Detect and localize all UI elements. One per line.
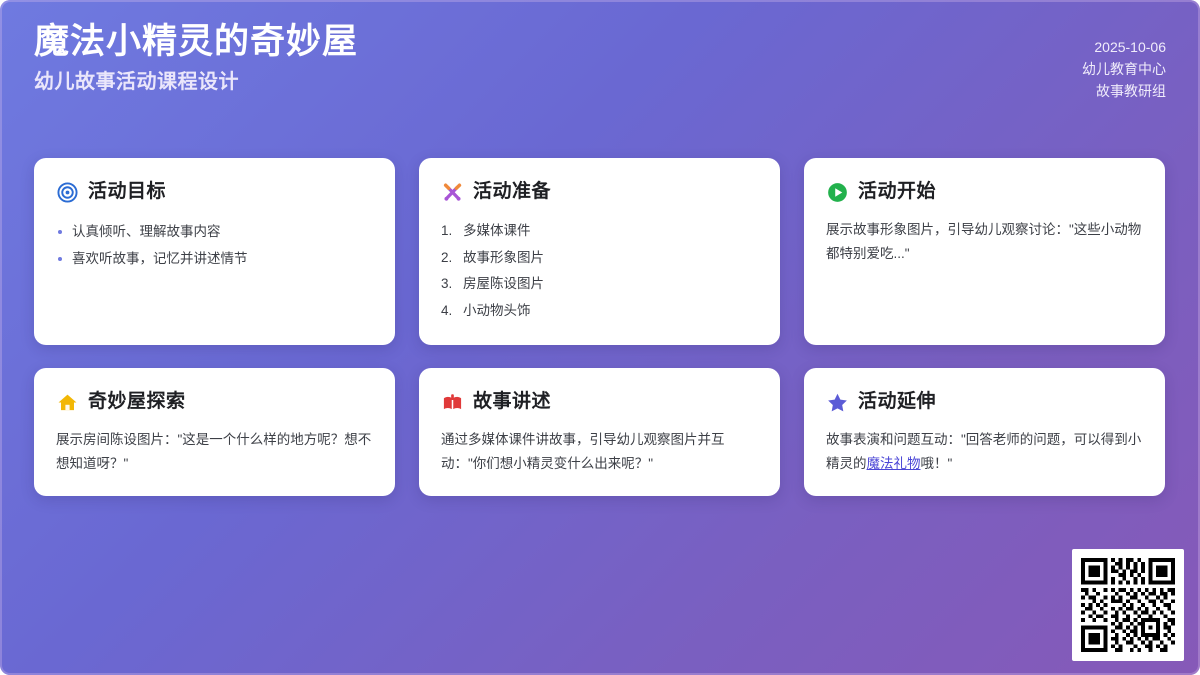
- preparation-list: 多媒体课件 故事形象图片 房屋陈设图片 小动物头饰: [441, 218, 758, 324]
- house-icon: [56, 391, 78, 413]
- card-story-telling: 故事讲述 通过多媒体课件讲故事，引导幼儿观察图片并互动："你们想小精灵变什么出来…: [419, 368, 780, 496]
- card-title: 故事讲述: [473, 390, 551, 414]
- list-item: 房屋陈设图片: [441, 271, 758, 298]
- card-activity-start: 活动开始 展示故事形象图片，引导幼儿观察讨论："这些小动物都特别爱吃...": [804, 158, 1165, 345]
- magic-gift-link[interactable]: 魔法礼物: [867, 456, 921, 471]
- card-header: 奇妙屋探索: [56, 390, 373, 414]
- book-icon: [441, 391, 463, 413]
- card-header: 故事讲述: [441, 390, 758, 414]
- card-header: 活动准备: [441, 180, 758, 204]
- card-body: 展示房间陈设图片："这是一个什么样的地方呢？想不想知道呀？": [56, 428, 373, 476]
- list-item: 多媒体课件: [441, 218, 758, 245]
- tools-icon: [441, 181, 463, 203]
- card-grid: 活动目标 认真倾听、理解故事内容 喜欢听故事，记忆并讲述情节: [34, 158, 1166, 496]
- card-header: 活动开始: [826, 180, 1143, 204]
- page-title: 魔法小精灵的奇妙屋: [34, 20, 358, 64]
- list-item: 故事形象图片: [441, 245, 758, 272]
- page-subtitle: 幼儿故事活动课程设计: [34, 68, 358, 96]
- body-text-after: 哦！": [921, 456, 953, 471]
- card-title: 活动准备: [473, 180, 551, 204]
- slide-header: 魔法小精灵的奇妙屋 幼儿故事活动课程设计 2025-10-06 幼儿教育中心 故…: [34, 20, 1166, 130]
- list-item: 喜欢听故事，记忆并讲述情节: [56, 245, 373, 272]
- card-title: 活动目标: [88, 180, 166, 204]
- qr-code-image: [1081, 558, 1175, 652]
- card-body: 展示故事形象图片，引导幼儿观察讨论："这些小动物都特别爱吃...": [826, 218, 1143, 266]
- card-activity-extension: 活动延伸 故事表演和问题互动："回答老师的问题，可以得到小精灵的魔法礼物哦！": [804, 368, 1165, 496]
- title-block: 魔法小精灵的奇妙屋 幼儿故事活动课程设计: [34, 20, 358, 96]
- card-header: 活动延伸: [826, 390, 1143, 414]
- meta-date: 2025-10-06: [1082, 36, 1166, 58]
- card-activity-preparation: 活动准备 多媒体课件 故事形象图片 房屋陈设图片 小动物头饰: [419, 158, 780, 345]
- qr-code[interactable]: [1072, 549, 1184, 661]
- goal-list: 认真倾听、理解故事内容 喜欢听故事，记忆并讲述情节: [56, 218, 373, 272]
- card-title: 奇妙屋探索: [88, 390, 186, 414]
- card-title: 活动开始: [858, 180, 936, 204]
- meta-department: 故事教研组: [1082, 80, 1166, 102]
- list-item: 小动物头饰: [441, 298, 758, 325]
- play-icon: [826, 181, 848, 203]
- target-icon: [56, 181, 78, 203]
- meta-block: 2025-10-06 幼儿教育中心 故事教研组: [1082, 36, 1166, 102]
- card-body: 通过多媒体课件讲故事，引导幼儿观察图片并互动："你们想小精灵变什么出来呢？": [441, 428, 758, 476]
- star-icon: [826, 391, 848, 413]
- card-header: 活动目标: [56, 180, 373, 204]
- card-activity-goals: 活动目标 认真倾听、理解故事内容 喜欢听故事，记忆并讲述情节: [34, 158, 395, 345]
- presentation-slide: 魔法小精灵的奇妙屋 幼儿故事活动课程设计 2025-10-06 幼儿教育中心 故…: [0, 0, 1200, 675]
- card-wonder-house-exploration: 奇妙屋探索 展示房间陈设图片："这是一个什么样的地方呢？想不想知道呀？": [34, 368, 395, 496]
- list-item: 认真倾听、理解故事内容: [56, 218, 373, 245]
- card-title: 活动延伸: [858, 390, 936, 414]
- meta-organization: 幼儿教育中心: [1082, 58, 1166, 80]
- card-body-extension: 故事表演和问题互动："回答老师的问题，可以得到小精灵的魔法礼物哦！": [826, 428, 1143, 476]
